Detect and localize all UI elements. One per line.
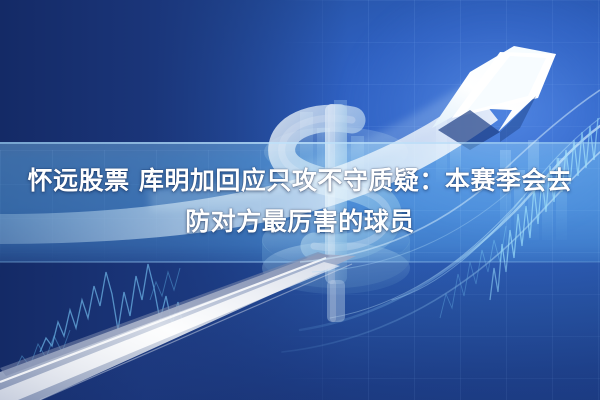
headline: 怀远股票 库明加回应只攻不守质疑：本赛季会去 防对方最厉害的球员 [0,160,600,242]
headline-line-2: 防对方最厉害的球员 [0,201,600,242]
headline-line-1: 怀远股票 库明加回应只攻不守质疑：本赛季会去 [0,160,600,201]
news-banner-image: 怀远股票 库明加回应只攻不守质疑：本赛季会去 防对方最厉害的球员 [0,0,600,400]
lower-panel [0,262,600,400]
